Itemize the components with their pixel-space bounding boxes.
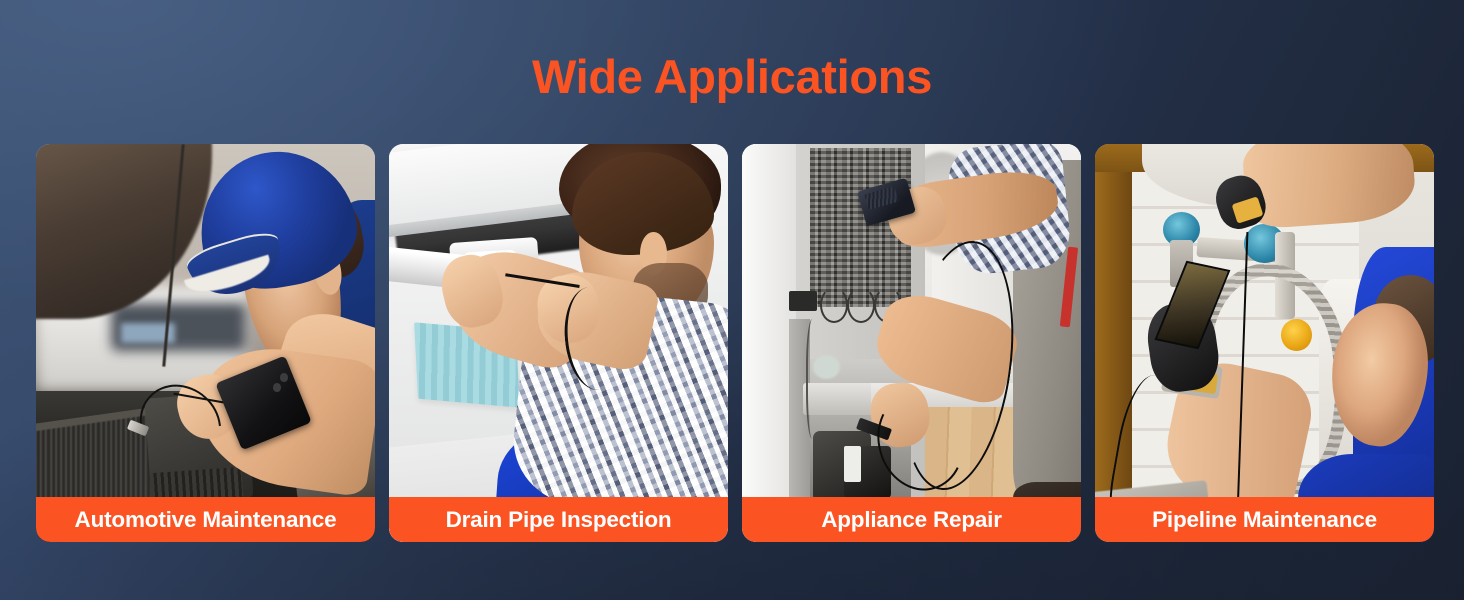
application-card-grid: Automotive Maintenance [36,144,1428,542]
application-card-drain-pipe-inspection[interactable]: Drain Pipe Inspection [389,144,728,542]
card-label-appliance-repair: Appliance Repair [742,497,1081,542]
wide-applications-banner: Wide Applications [0,0,1464,600]
page-title: Wide Applications [0,52,1464,101]
card-label-automotive-maintenance: Automotive Maintenance [36,497,375,542]
pipeline-maintenance-photo [1095,144,1434,542]
drain-pipe-inspection-photo [389,144,728,542]
application-card-appliance-repair[interactable]: Appliance Repair [742,144,1081,542]
application-card-pipeline-maintenance[interactable]: Pipeline Maintenance [1095,144,1434,542]
automotive-maintenance-photo [36,144,375,542]
card-label-drain-pipe-inspection: Drain Pipe Inspection [389,497,728,542]
card-label-pipeline-maintenance: Pipeline Maintenance [1095,497,1434,542]
application-card-automotive-maintenance[interactable]: Automotive Maintenance [36,144,375,542]
appliance-repair-photo [742,144,1081,542]
